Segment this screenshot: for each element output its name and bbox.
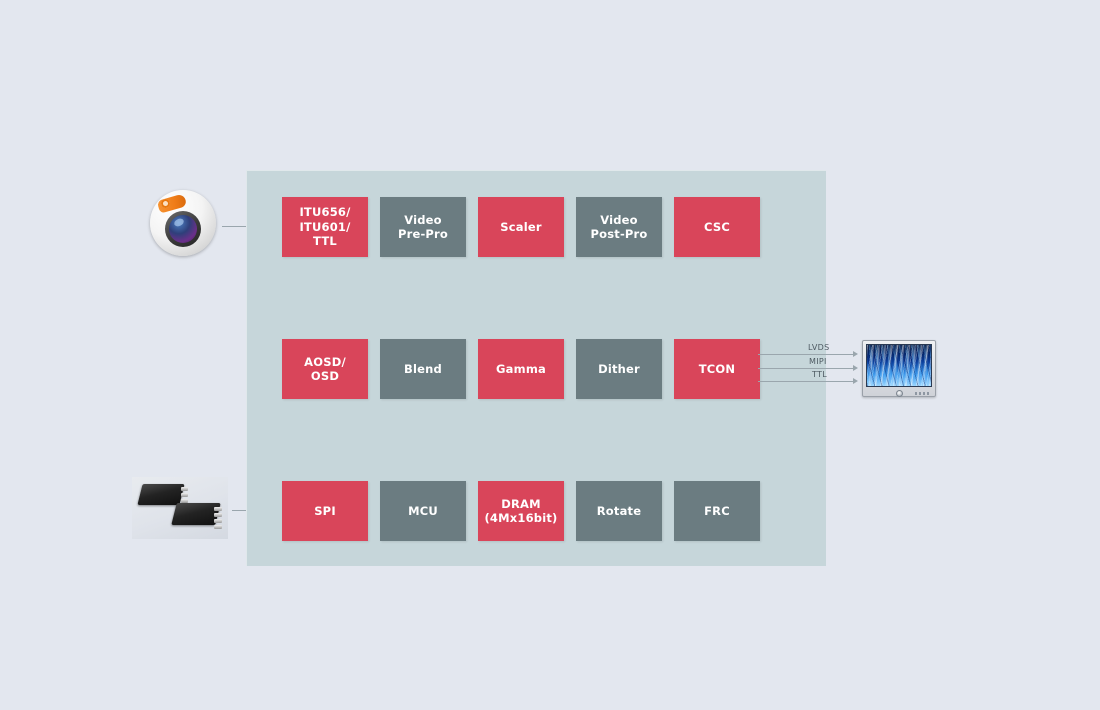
block-blend[interactable]: Blend <box>380 339 466 399</box>
block-row-display-pipeline: AOSD/ OSD Blend Gamma Dither TCON <box>282 339 760 399</box>
conn-line-lvds <box>758 354 856 355</box>
block-dram[interactable]: DRAM (4Mx16bit) <box>478 481 564 541</box>
conn-line-mipi <box>758 368 856 369</box>
conn-head-lvds <box>853 351 858 357</box>
camera-icon <box>150 190 216 256</box>
block-csc[interactable]: CSC <box>674 197 760 257</box>
ic-pin <box>214 525 222 529</box>
ic-pin <box>214 513 222 517</box>
conn-line-ttl <box>758 381 856 382</box>
ic-pin <box>181 487 188 491</box>
block-video-post-pro-label: Video Post-Pro <box>590 213 647 242</box>
block-scaler[interactable]: Scaler <box>478 197 564 257</box>
block-rotate[interactable]: Rotate <box>576 481 662 541</box>
diagram-canvas: ITU656/ ITU601/ TTL Video Pre-Pro Scaler… <box>0 0 1100 710</box>
block-video-pre-pro[interactable]: Video Pre-Pro <box>380 197 466 257</box>
block-video-pre-pro-label: Video Pre-Pro <box>398 213 448 242</box>
monitor-power-button <box>896 390 903 397</box>
block-gamma[interactable]: Gamma <box>478 339 564 399</box>
block-itu[interactable]: ITU656/ ITU601/ TTL <box>282 197 368 257</box>
block-frc-label: FRC <box>704 504 730 518</box>
block-aosd-osd-label: AOSD/ OSD <box>304 355 346 384</box>
conn-label-mipi: MIPI <box>809 357 827 366</box>
block-dram-label: DRAM (4Mx16bit) <box>484 497 557 526</box>
block-row-system: SPI MCU DRAM (4Mx16bit) Rotate FRC <box>282 481 760 541</box>
block-dither[interactable]: Dither <box>576 339 662 399</box>
ic-chip-icon <box>132 477 228 539</box>
conn-head-ttl <box>853 378 858 384</box>
monitor-bezel-controls <box>866 389 932 397</box>
block-aosd-osd[interactable]: AOSD/ OSD <box>282 339 368 399</box>
block-itu-label: ITU656/ ITU601/ TTL <box>299 205 350 248</box>
block-gamma-label: Gamma <box>496 362 546 376</box>
ic-chip-body-back <box>137 484 184 505</box>
block-csc-label: CSC <box>704 220 730 234</box>
block-mcu-label: MCU <box>408 504 438 518</box>
block-row-video-front-end: ITU656/ ITU601/ TTL Video Pre-Pro Scaler… <box>282 197 760 257</box>
block-scaler-label: Scaler <box>500 220 541 234</box>
block-blend-label: Blend <box>404 362 442 376</box>
block-frc[interactable]: FRC <box>674 481 760 541</box>
monitor-indicator-dots <box>915 392 929 395</box>
ic-pin <box>214 519 222 523</box>
block-spi-label: SPI <box>314 504 336 518</box>
ic-pin <box>214 507 222 511</box>
monitor-icon <box>862 340 936 397</box>
conn-label-ttl: TTL <box>812 370 827 379</box>
block-dither-label: Dither <box>598 362 640 376</box>
block-tcon-label: TCON <box>699 362 736 376</box>
conn-label-lvds: LVDS <box>808 343 830 352</box>
monitor-screen <box>866 344 932 387</box>
conn-head-mipi <box>853 365 858 371</box>
block-rotate-label: Rotate <box>597 504 642 518</box>
chip-panel: ITU656/ ITU601/ TTL Video Pre-Pro Scaler… <box>246 170 826 566</box>
block-mcu[interactable]: MCU <box>380 481 466 541</box>
block-tcon[interactable]: TCON <box>674 339 760 399</box>
block-spi[interactable]: SPI <box>282 481 368 541</box>
block-video-post-pro[interactable]: Video Post-Pro <box>576 197 662 257</box>
ic-pin <box>181 493 188 497</box>
